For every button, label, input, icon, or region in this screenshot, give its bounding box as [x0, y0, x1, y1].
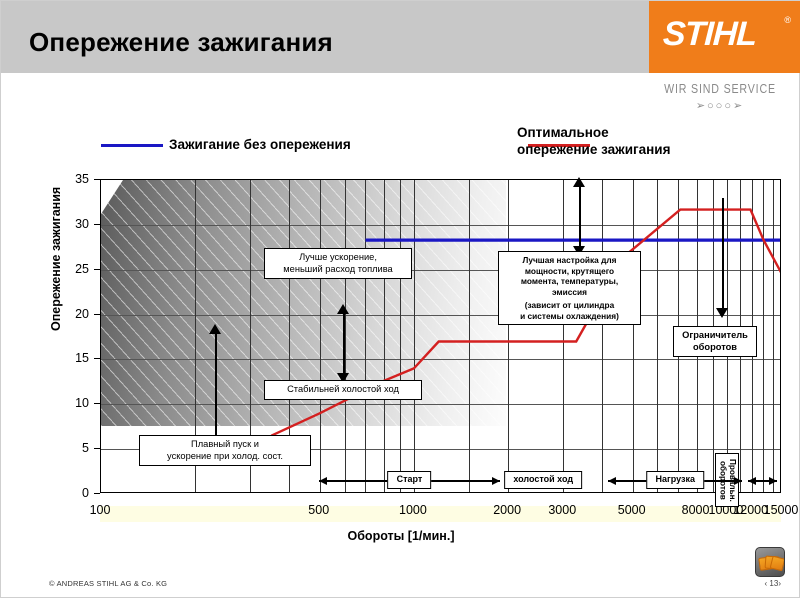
callout-best-tuning-line5: (зависит от цилиндра — [504, 300, 635, 311]
x-axis-tick-label: 100 — [90, 503, 111, 517]
arrow-power-head-up — [573, 177, 585, 187]
range-indicator: Нагрузка — [608, 475, 743, 487]
tagline: WIR SIND SERVICE — [662, 81, 778, 96]
callout-best-tuning: Лучшая настройка для мощности, крутящего… — [498, 251, 641, 325]
callout-best-tuning-line1: Лучшая настройка для — [504, 255, 635, 266]
callout-rev-limiter: Ограничитель оборотов — [673, 326, 757, 357]
callout-smooth-start-line2: ускорение при холод. сост. — [145, 451, 305, 463]
y-axis-tick-label: 30 — [75, 217, 89, 231]
x-axis-tick-label: 5000 — [618, 503, 646, 517]
callout-rev-limiter-line2: оборотов — [679, 342, 751, 354]
y-axis-tick-label: 20 — [75, 307, 89, 321]
footer-copyright: © ANDREAS STIHL AG & Co. KG — [49, 579, 167, 588]
range-indicator-label: холостой ход — [504, 471, 582, 489]
legend-swatch-no-advance — [101, 144, 163, 147]
x-axis-tick-label: 15000 — [764, 503, 799, 517]
range-indicator: холостой ход — [507, 475, 579, 487]
callout-best-tuning-line4: эмиссия — [504, 287, 635, 298]
legend-label-optimal: Оптимальное опережение зажигания — [517, 124, 670, 158]
callout-better-accel-line1: Лучше ускорение, — [270, 252, 406, 264]
registered-trademark-icon: ® — [784, 15, 791, 25]
x-axis-tick-label: 3000 — [548, 503, 576, 517]
x-axis-tick-label: 2000 — [493, 503, 521, 517]
arrow-smooth-start-head — [209, 324, 221, 334]
callout-best-tuning-line2: мощности, крутящего — [504, 266, 635, 277]
y-axis-tick-label: 10 — [75, 396, 89, 410]
y-axis-tick-label: 0 — [82, 486, 89, 500]
footer-page-number: ‹ 13› — [765, 579, 781, 588]
y-axis-tick-label: 15 — [75, 351, 89, 365]
callout-stable-idle-text: Стабильней холостой ход — [270, 384, 416, 396]
callout-smooth-start: Плавный пуск и ускорение при холод. сост… — [139, 435, 311, 466]
legend-label-optimal-line2: опережение зажигания — [517, 141, 670, 158]
range-indicator-label: Старт — [388, 471, 432, 489]
stihl-logo-text: STIHL — [662, 15, 757, 54]
callout-better-accel-line2: меньший расход топлива — [270, 264, 406, 276]
callout-best-tuning-line6: и системы охлаждения) — [504, 311, 635, 322]
arrow-limiter-head — [716, 308, 728, 318]
arrow-limiter-shaft — [722, 198, 724, 310]
y-axis-title: Опережение зажигания — [49, 187, 63, 331]
arrow-power-shaft — [579, 186, 581, 248]
x-axis-tick-label: 8000 — [682, 503, 710, 517]
arrow-smooth-start-shaft — [215, 333, 217, 445]
x-axis-tick-label: 1000 — [399, 503, 427, 517]
range-indicator: Старт — [319, 475, 500, 487]
chart-legend: Зажигание без опережения Оптимальное опе… — [1, 119, 800, 163]
callout-best-tuning-line3: момента, температуры, — [504, 276, 635, 287]
x-axis-tick-label: 500 — [308, 503, 329, 517]
callout-better-accel: Лучше ускорение, меньший расход топлива — [264, 248, 412, 279]
slide: Опережение зажигания STIHL ® WIR SIND SE… — [0, 0, 800, 598]
y-axis-tick — [94, 493, 100, 494]
callout-stable-idle: Стабильней холостой ход — [264, 380, 422, 400]
stihl-logo: STIHL ® — [649, 1, 800, 73]
y-axis-tick-label: 35 — [75, 172, 89, 186]
legend-label-no-advance: Зажигание без опережения — [169, 136, 351, 153]
x-axis-band — [100, 506, 781, 522]
callout-rev-limiter-line1: Ограничитель — [679, 330, 751, 342]
y-axis-tick-label: 25 — [75, 262, 89, 276]
legend-label-optimal-line1: Оптимальное — [517, 124, 670, 141]
arrow-idle-head-up — [337, 304, 349, 314]
x-axis-title: Обороты [1/мин.] — [1, 529, 800, 543]
slide-deck-icon[interactable] — [755, 547, 785, 577]
arrow-idle-shaft — [343, 313, 345, 375]
page-title: Опережение зажигания — [29, 27, 333, 58]
range-indicator — [748, 475, 777, 487]
tagline-dots-icon: ➢○○○➢ — [649, 99, 791, 112]
callout-smooth-start-line1: Плавный пуск и — [145, 439, 305, 451]
range-indicator-label: Нагрузка — [646, 471, 704, 489]
y-axis-tick-label: 5 — [82, 441, 89, 455]
